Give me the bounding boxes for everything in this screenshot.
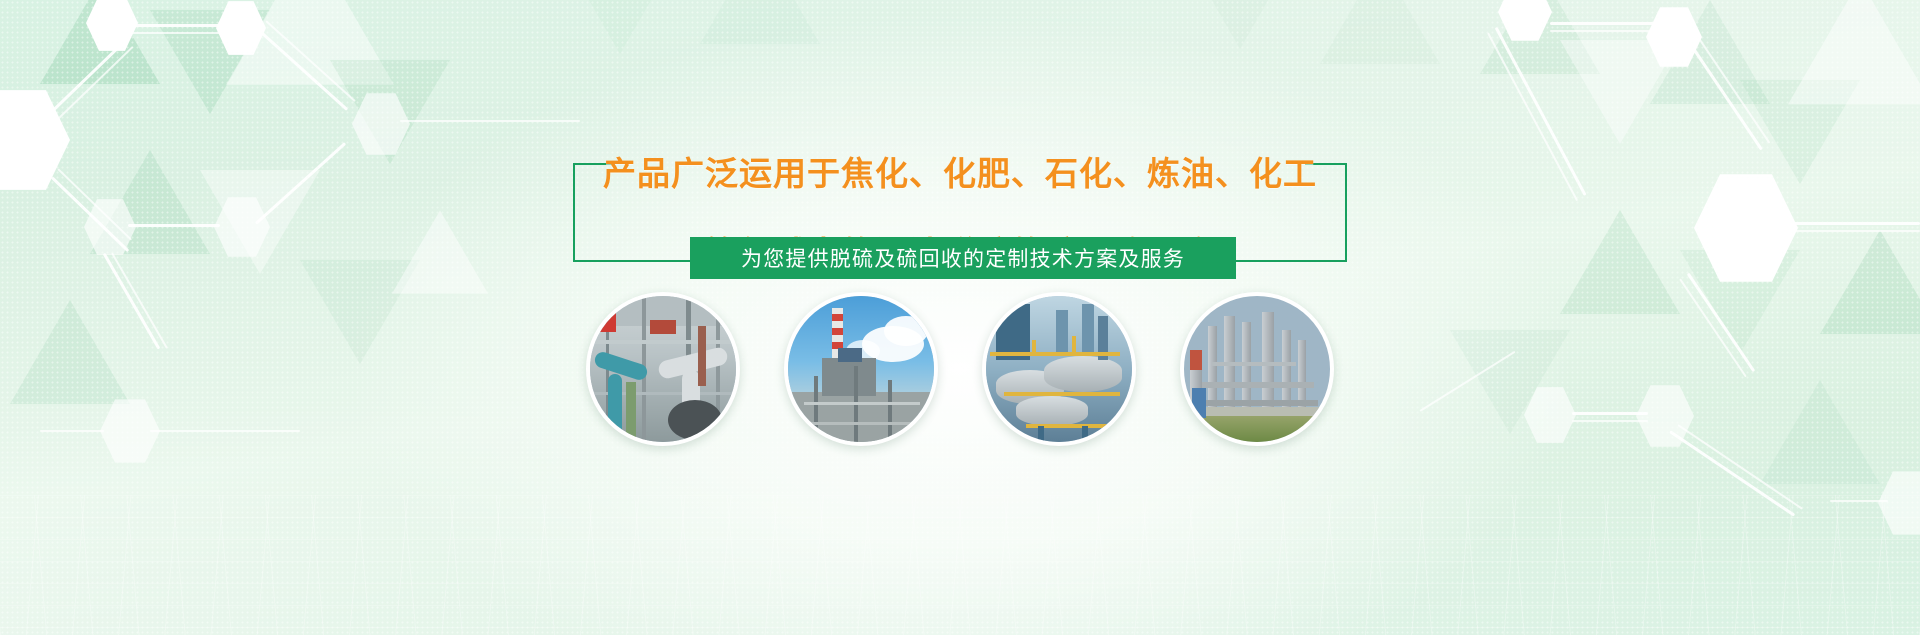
perspective-floor-grid xyxy=(0,495,1920,635)
promotional-banner: 产品广泛运用于焦化、化肥、石化、炼油、化工 等领域中的湿法脱硫的硫回收工序 为您… xyxy=(0,0,1920,635)
photo-circle-process-piping xyxy=(586,292,740,446)
photo-circle-recovery-stack xyxy=(784,292,938,446)
subtitle-banner: 为您提供脱硫及硫回收的定制技术方案及服务 xyxy=(690,237,1236,279)
photo-circle-pressure-vessels xyxy=(982,292,1136,446)
headline-text: 产品广泛运用于焦化、化肥、石化、炼油、化工 等领域中的湿法脱硫的硫回收工序 xyxy=(0,114,1920,314)
photo-circle-refinery-towers xyxy=(1180,292,1334,446)
headline-line-1: 产品广泛运用于焦化、化肥、石化、炼油、化工 xyxy=(0,154,1920,194)
photo-strip xyxy=(0,292,1920,446)
subtitle-text: 为您提供脱硫及硫回收的定制技术方案及服务 xyxy=(741,243,1185,273)
